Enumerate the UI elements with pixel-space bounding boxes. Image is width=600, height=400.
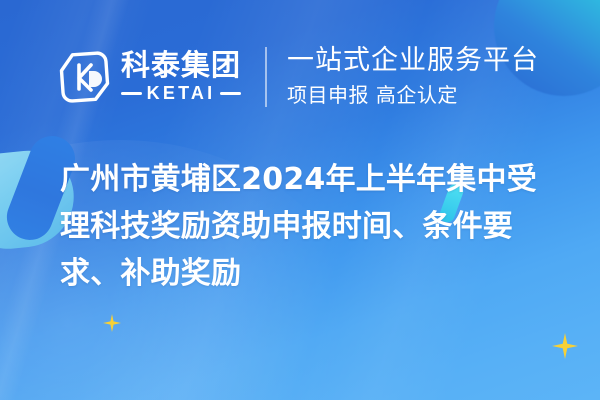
four-point-star-icon (552, 333, 578, 359)
logo-english-row: KETAI (121, 83, 241, 104)
ketai-diamond-k-logo-icon (58, 49, 112, 105)
headline-line: 广州市黄埔区2024年上半年集中受 (60, 156, 560, 203)
platform-services: 项目申报 高企认定 (287, 82, 539, 109)
headline: 广州市黄埔区2024年上半年集中受 理科技奖励资助申报时间、条件要 求、补助奖励 (60, 156, 560, 297)
logo-rule-left (121, 92, 142, 95)
four-point-star-icon (103, 314, 121, 332)
headline-line: 理科技奖励资助申报时间、条件要 (60, 203, 560, 250)
company-logo[interactable]: 科泰集团 KETAI (58, 49, 241, 105)
header-text-block: 一站式企业服务平台 项目申报 高企认定 (287, 45, 539, 109)
headline-line: 求、补助奖励 (60, 250, 560, 297)
header-divider (265, 47, 267, 107)
logo-company-name-cn: 科泰集团 (121, 50, 241, 80)
banner-header: 科泰集团 KETAI 一站式企业服务平台 项目申报 高企认定 (0, 32, 600, 122)
platform-tagline: 一站式企业服务平台 (287, 45, 539, 77)
logo-rule-right (220, 92, 241, 95)
logo-company-name-en: KETAI (147, 83, 216, 104)
promo-banner: 科泰集团 KETAI 一站式企业服务平台 项目申报 高企认定 广州市黄埔区202… (0, 0, 600, 400)
logo-wordmark: 科泰集团 KETAI (121, 50, 241, 103)
